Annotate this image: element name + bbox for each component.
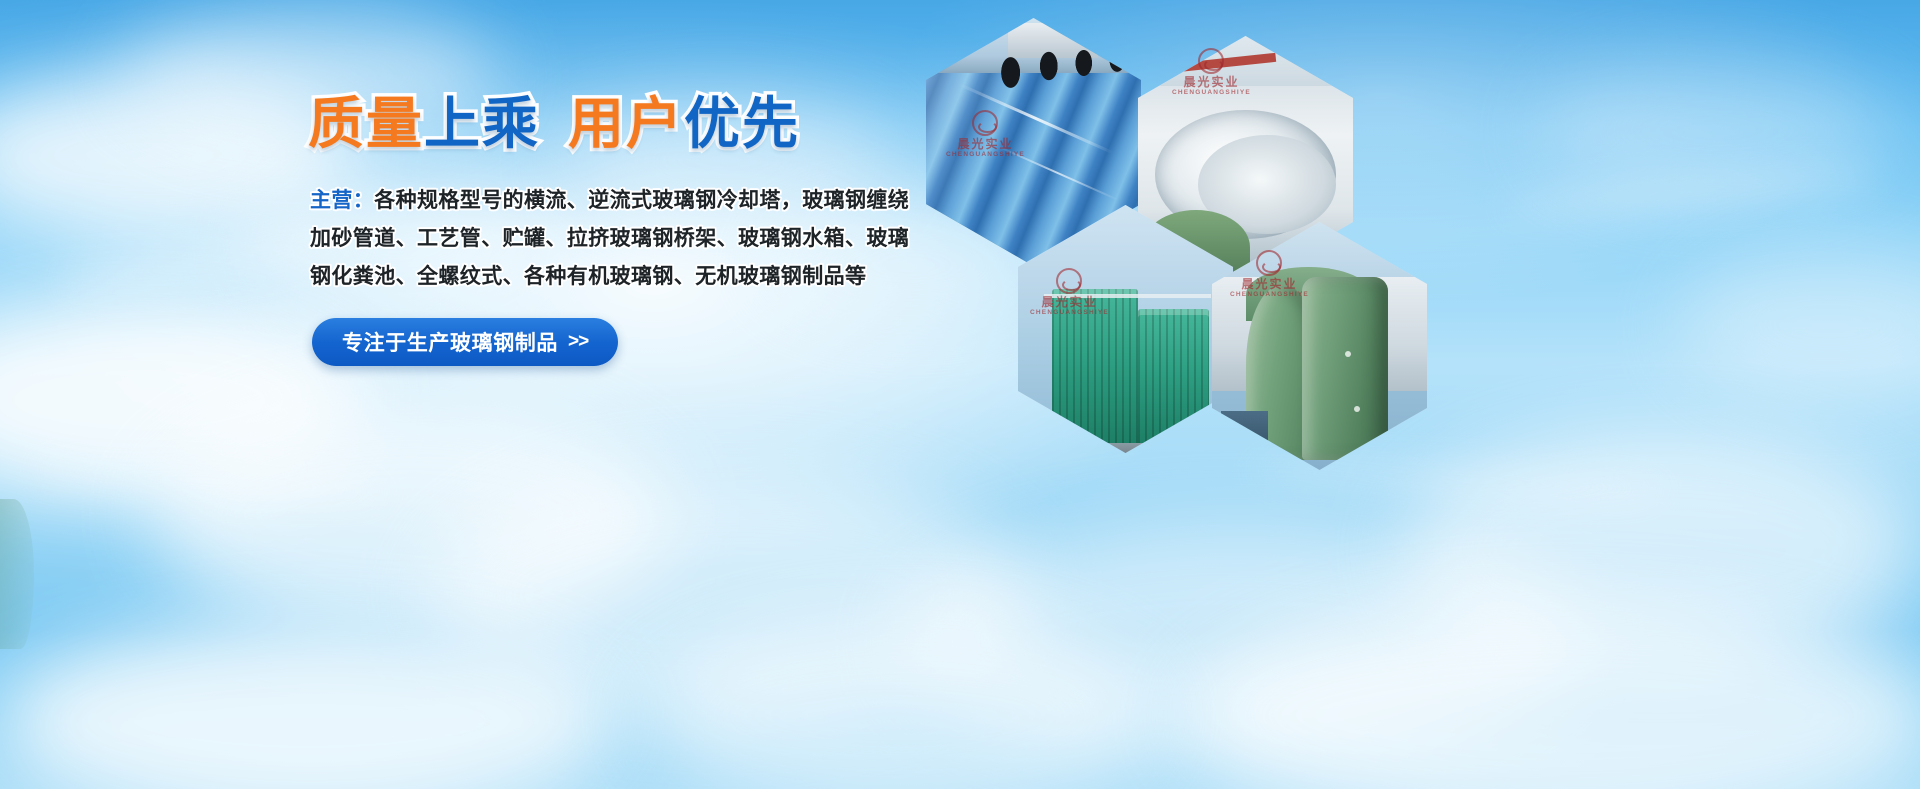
headline-segment-2: 上乘 — [424, 92, 540, 155]
subtitle-body: 各种规格型号的横流、逆流式玻璃钢冷却塔，玻璃钢缠绕加砂管道、工艺管、贮罐、拉挤玻… — [310, 189, 909, 288]
subtitle-paragraph: 主营：各种规格型号的横流、逆流式玻璃钢冷却塔，玻璃钢缠绕加砂管道、工艺管、贮罐、… — [310, 182, 910, 296]
photo-tower-primary — [1052, 289, 1138, 443]
photo-vessel — [1302, 277, 1388, 461]
photo-port-dot — [1354, 406, 1360, 412]
headline: 质量上乘用户优先 — [308, 96, 800, 152]
subtitle-lead-label: 主营： — [310, 189, 374, 212]
cta-button[interactable]: 专注于生产玻璃钢制品 >> — [312, 318, 618, 366]
headline-segment-3: 用户 — [568, 92, 684, 155]
headline-segment-4: 优先 — [684, 92, 800, 155]
photo-railing — [1044, 294, 1212, 298]
photo-tower-secondary — [1138, 309, 1209, 443]
promo-banner: 质量上乘用户优先 主营：各种规格型号的横流、逆流式玻璃钢冷却塔，玻璃钢缠绕加砂管… — [0, 0, 1920, 789]
headline-segment-1: 质量 — [308, 92, 424, 155]
chevron-double-right-icon: >> — [568, 331, 588, 353]
photo-highlight — [996, 145, 1119, 201]
photo-pipe-ends — [982, 45, 1141, 95]
banner-text-block: 质量上乘用户优先 主营：各种规格型号的横流、逆流式玻璃钢冷却塔，玻璃钢缠绕加砂管… — [0, 0, 920, 789]
cta-button-label: 专注于生产玻璃钢制品 — [342, 327, 558, 357]
photo-door — [1221, 411, 1268, 466]
product-photo-collage: 晨光实业 CHENGUANGSHIYE 晨光实业 CHENGUANGSHIYE … — [900, 0, 1920, 789]
